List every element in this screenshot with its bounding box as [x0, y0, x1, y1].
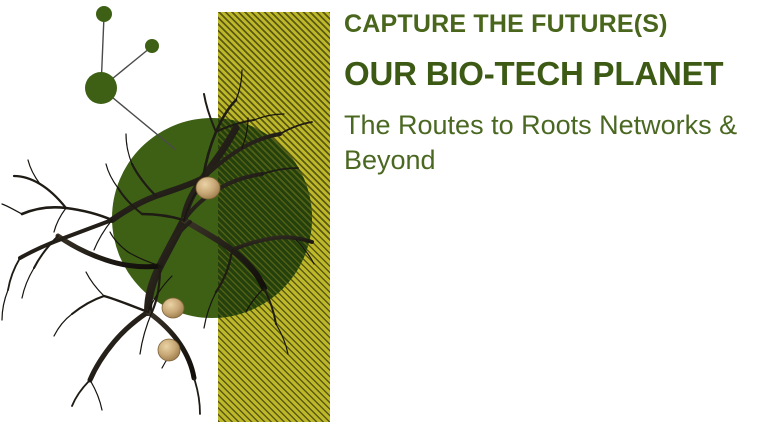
slide-canvas: CAPTURE THE FUTURE(S) OUR BIO-TECH PLANE…: [0, 0, 768, 431]
title-text-block: CAPTURE THE FUTURE(S) OUR BIO-TECH PLANE…: [344, 0, 764, 431]
eyebrow-text: CAPTURE THE FUTURE(S): [344, 10, 668, 39]
root-nodule-upper: [196, 177, 220, 199]
root-nodule-lower: [158, 339, 180, 361]
subtitle-text: The Routes to Roots Networks & Beyond: [344, 108, 759, 177]
graphic-composition: [0, 0, 340, 431]
root-network-illustration: [0, 0, 340, 431]
page-title: OUR BIO-TECH PLANET: [344, 55, 723, 93]
root-nodule-middle: [162, 298, 184, 318]
root-secondary-branches: [8, 94, 312, 414]
